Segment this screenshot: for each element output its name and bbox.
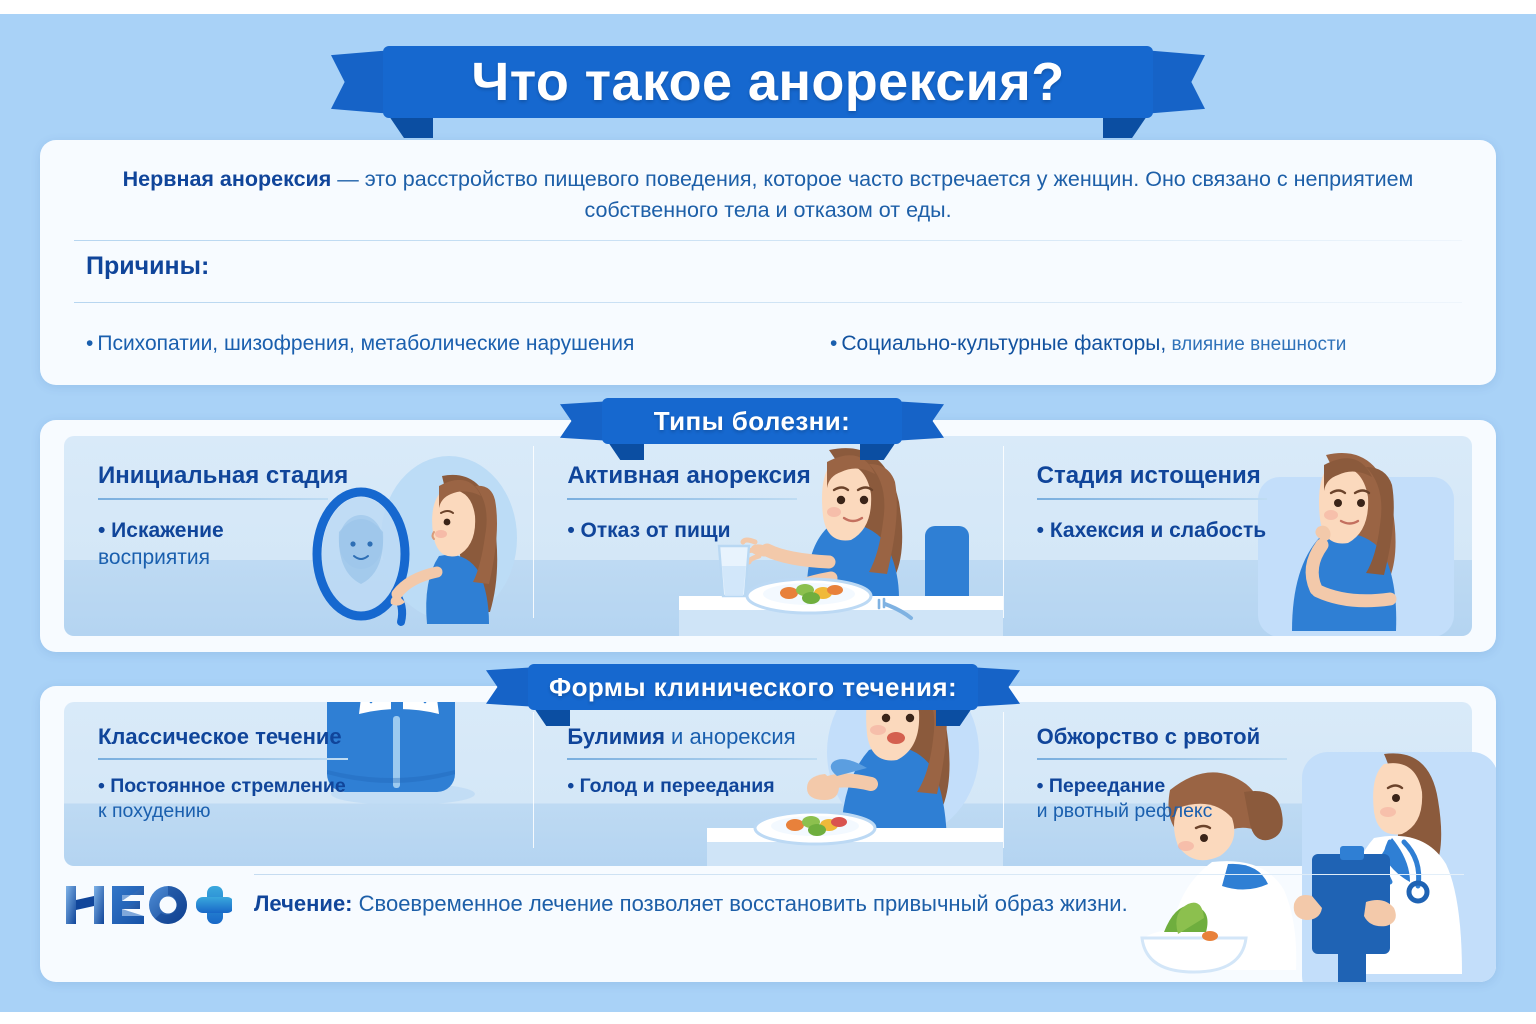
- form-title-3: Обжорство с рвотой: [1037, 724, 1261, 750]
- title-underline: [1037, 758, 1287, 760]
- type-bullet-1-rest: восприятия: [98, 546, 210, 569]
- bullet-icon: •: [86, 332, 93, 355]
- form-bullet-1-rest: к похудению: [98, 800, 211, 822]
- title-underline: [98, 498, 328, 500]
- forms-section-ribbon: Формы клинического течения:: [528, 664, 978, 710]
- type-panel-exhaustion-stage[interactable]: Стадия истощения • Кахексия и слабость: [1003, 436, 1472, 636]
- forms-section-title: Формы клинического течения:: [528, 664, 978, 710]
- form-bullet-1-strong: • Постоянное стремление: [98, 775, 346, 797]
- form-bullet-2: • Голод и переедания: [567, 774, 867, 799]
- infographic-page: Что такое анорексия? Нервная анорексия —…: [0, 0, 1536, 1024]
- form-panel-bulimia[interactable]: Булимия и анорексия • Голод и переедания: [533, 702, 1002, 866]
- forms-panel-group: Классическое течение • Постоянное стремл…: [64, 702, 1472, 866]
- type-bullet-1: • Искажение восприятия: [98, 518, 388, 572]
- type-panel-active-anorexia[interactable]: Активная анорексия • Отказ от пищи: [533, 436, 1002, 636]
- type-bullet-3-strong: • Кахексия и слабость: [1037, 519, 1267, 542]
- form-title-2-strong: Булимия: [567, 724, 665, 749]
- type-title-3: Стадия истощения: [1037, 462, 1261, 490]
- title-underline: [1037, 498, 1267, 500]
- intro-body: — это расстройство пищевого поведения, к…: [331, 167, 1413, 222]
- intro-divider-top: [74, 240, 1462, 241]
- types-card: Инициальная стадия • Искажение восприяти…: [40, 420, 1496, 652]
- cause-item-2-strong: Социально-культурные факторы,: [841, 332, 1166, 355]
- form-panel-binge-vomit[interactable]: Обжорство с рвотой • Переедание и рвотны…: [1003, 702, 1472, 866]
- form-bullet-3-rest: и рвотный рефлекс: [1037, 800, 1213, 822]
- type-title-1: Инициальная стадия: [98, 462, 348, 490]
- intro-paragraph: Нервная анорексия — это расстройство пищ…: [74, 164, 1462, 225]
- form-title-1: Классическое течение: [98, 724, 342, 750]
- page-title: Что такое анорексия?: [383, 46, 1153, 118]
- neo-plus-logo-mark: [64, 882, 232, 928]
- cause-item-2: •Социально-культурные факторы, влияние в…: [830, 332, 1346, 356]
- type-panel-initial-stage[interactable]: Инициальная стадия • Искажение восприяти…: [64, 436, 533, 636]
- title-underline: [567, 498, 797, 500]
- form-bullet-2-strong: • Голод и переедания: [567, 775, 774, 797]
- form-bullet-1: • Постоянное стремление к похудению: [98, 774, 398, 824]
- type-bullet-2-strong: • Отказ от пищи: [567, 519, 730, 542]
- ribbon-fold-right: [1103, 116, 1147, 138]
- types-panel-group: Инициальная стадия • Искажение восприяти…: [64, 436, 1472, 636]
- form-bullet-3: • Переедание и рвотный рефлекс: [1037, 774, 1337, 824]
- bottom-white-strip: [0, 1012, 1536, 1024]
- treatment-lead: Лечение:: [254, 891, 353, 916]
- intro-divider-bottom: [74, 302, 1462, 303]
- type-title-2: Активная анорексия: [567, 462, 810, 490]
- form-bullet-3-strong: • Переедание: [1037, 775, 1166, 797]
- cause-item-1: •Психопатии, шизофрения, метаболические …: [86, 332, 634, 356]
- bullet-icon: •: [830, 332, 837, 355]
- intro-card: Нервная анорексия — это расстройство пищ…: [40, 140, 1496, 385]
- page-title-ribbon: Что такое анорексия?: [383, 46, 1153, 118]
- type-bullet-3: • Кахексия и слабость: [1037, 518, 1327, 545]
- type-bullet-2: • Отказ от пищи: [567, 518, 857, 545]
- neo-plus-logo: [64, 882, 232, 928]
- treatment-text: Своевременное лечение позволяет восстано…: [353, 891, 1128, 916]
- causes-heading: Причины:: [86, 252, 209, 281]
- cause-item-2-small: влияние внешности: [1166, 334, 1346, 355]
- cause-item-1-text: Психопатии, шизофрения, метаболические н…: [97, 332, 634, 355]
- treatment-note: Лечение: Своевременное лечение позволяет…: [254, 891, 1128, 917]
- types-section-ribbon: Типы болезни:: [602, 398, 902, 444]
- type-bullet-1-strong: • Искажение: [98, 519, 224, 542]
- title-underline: [98, 758, 348, 760]
- forms-card: Классическое течение • Постоянное стремл…: [40, 686, 1496, 982]
- ribbon-fold-left: [389, 116, 433, 138]
- form-title-2: Булимия и анорексия: [567, 724, 795, 750]
- intro-lead: Нервная анорексия: [123, 167, 332, 191]
- form-panel-classic[interactable]: Классическое течение • Постоянное стремл…: [64, 702, 533, 866]
- title-underline: [567, 758, 817, 760]
- footer-divider: [254, 874, 1464, 875]
- form-title-2-regular: и анорексия: [665, 724, 796, 749]
- types-section-title: Типы болезни:: [602, 398, 902, 444]
